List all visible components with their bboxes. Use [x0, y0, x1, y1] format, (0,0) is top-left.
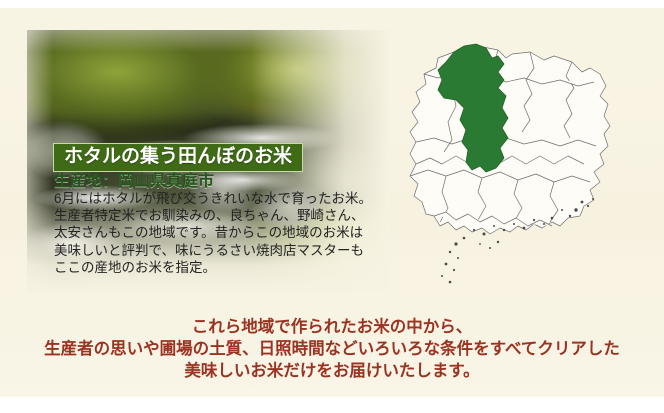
product-description: 6月にはホタルが飛び交うきれいな水で育ったお米。 生産者特定米でお馴染みの、良ち…	[54, 190, 384, 276]
closing-message-line: 生産者の思いや圃場の土質、日照時間などいろいろな条件をすべてクリアした	[0, 338, 664, 360]
map-svg	[394, 30, 639, 292]
description-line: 太安さんもこの地域です。昔からこの地域のお米は	[54, 224, 384, 241]
description-line: ここの産地のお米を指定。	[54, 259, 384, 276]
description-line: 生産者特定米でお馴染みの、良ちゃん、野崎さん、	[54, 207, 384, 224]
closing-message: これら地域で作られたお米の中から、 生産者の思いや圃場の土質、日照時間などいろい…	[0, 316, 664, 382]
product-title-text: ホタルの集う田んぼのお米	[64, 147, 292, 166]
product-origin-panel: ホタルの集う田んぼのお米 生産地：岡山県真庭市 6月にはホタルが飛び交うきれいな…	[0, 0, 664, 413]
closing-message-line: 美味しいお米だけをお届けいたします。	[0, 360, 664, 382]
okayama-prefecture-map	[394, 30, 639, 292]
closing-message-line: これら地域で作られたお米の中から、	[0, 316, 664, 338]
production-area-label: 生産地：岡山県真庭市	[54, 172, 214, 191]
description-line: 6月にはホタルが飛び交うきれいな水で育ったお米。	[54, 190, 384, 207]
description-line: 美味しいと評判で、味にうるさい焼肉店マスターも	[54, 242, 384, 259]
product-title-banner: ホタルの集う田んぼのお米	[53, 143, 303, 172]
